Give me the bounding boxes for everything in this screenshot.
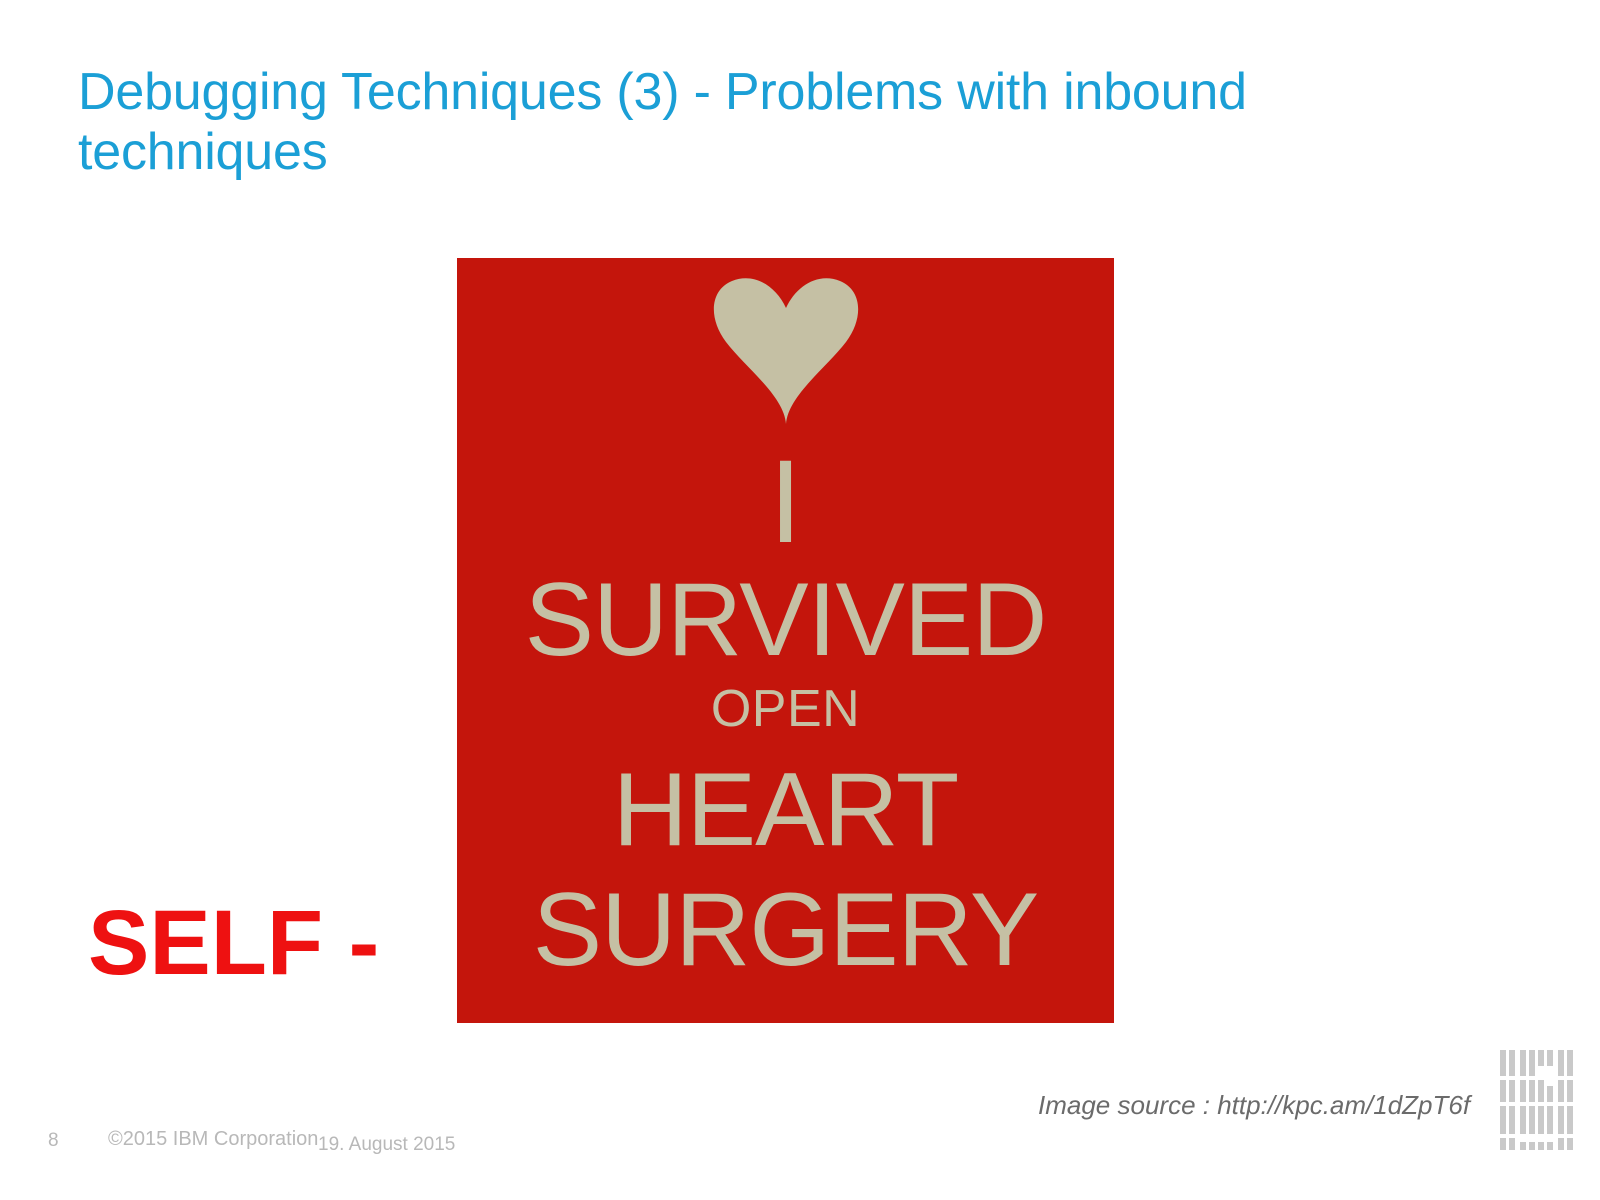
poster-line-organ: HEART (457, 758, 1114, 862)
page-title: Debugging Techniques (3) - Problems with… (78, 62, 1398, 182)
slide-footer: 8 ©2015 IBM Corporation 19. August 2015 (0, 1122, 1600, 1162)
footer-page-number: 8 (48, 1130, 59, 1152)
poster-line-modifier: OPEN (457, 683, 1114, 735)
image-source-caption: Image source : http://kpc.am/1dZpT6f (1038, 1090, 1470, 1121)
footer-copyright: ©2015 IBM Corporation (108, 1128, 318, 1151)
footer-date: 19. August 2015 (318, 1134, 455, 1156)
poster-line-pronoun: I (457, 443, 1114, 561)
keep-calm-poster-image: I SURVIVED OPEN HEART SURGERY (457, 258, 1114, 1023)
heart-icon (457, 276, 1114, 426)
poster-line-procedure: SURGERY (457, 878, 1114, 982)
self-annotation-overlay: SELF - (88, 893, 458, 993)
poster-line-verb: SURVIVED (457, 568, 1114, 672)
presentation-slide: Debugging Techniques (3) - Problems with… (0, 0, 1600, 1200)
